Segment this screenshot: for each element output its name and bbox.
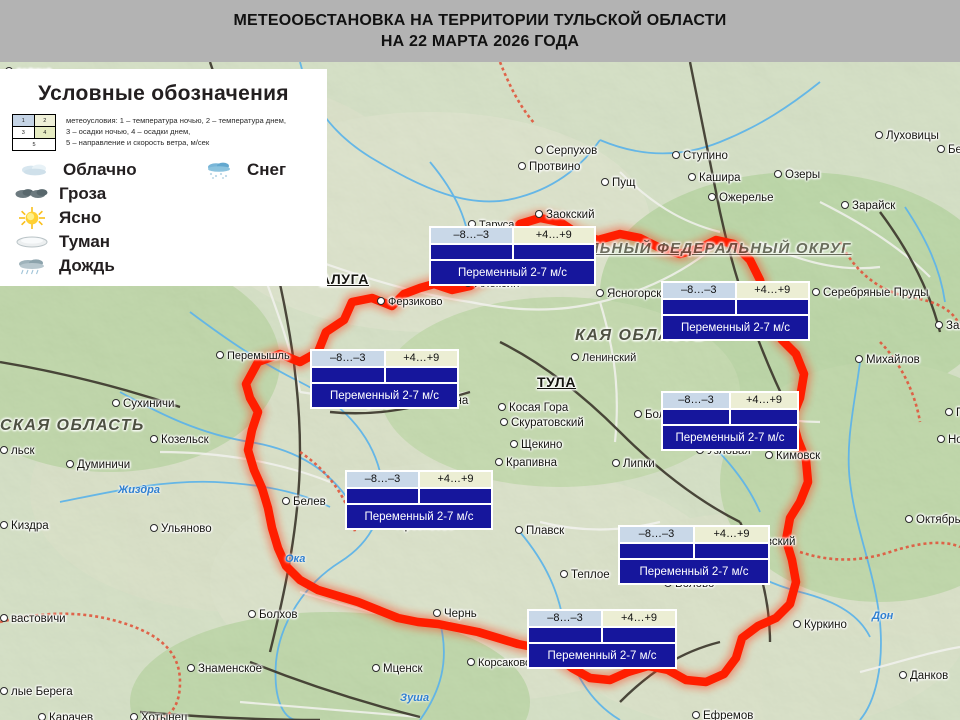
temperature-row: –8…–3+4…+9 <box>662 282 809 299</box>
day-precipitation <box>602 627 676 643</box>
night-precipitation <box>346 488 419 504</box>
legend-label-cloudy: Облачно <box>63 160 137 180</box>
legend-key-row: 1 2 3 4 5 метеоусловия: 1 – температура … <box>12 114 317 151</box>
legend-item-sunny: Ясно <box>14 207 101 229</box>
day-precipitation <box>730 409 798 425</box>
night-precipitation <box>662 299 736 315</box>
temperature-row: –8…–3+4…+9 <box>528 610 676 627</box>
header-title-line-1: МЕТЕООБСТАНОВКА НА ТЕРРИТОРИИ ТУЛЬСКОЙ О… <box>234 10 727 31</box>
cell-3: 3 <box>13 127 35 139</box>
page-header: МЕТЕООБСТАНОВКА НА ТЕРРИТОРИИ ТУЛЬСКОЙ О… <box>0 0 960 62</box>
legend-label-rain: Дождь <box>59 256 115 276</box>
precipitation-row <box>619 543 769 559</box>
weather-box-donskoy[interactable]: –8…–3+4…+9Переменный 2-7 м/с <box>661 391 799 451</box>
cell-4: 4 <box>34 127 56 139</box>
wind-row: Переменный 2-7 м/с <box>311 383 458 408</box>
cloudy-icon <box>18 159 54 181</box>
wind-row: Переменный 2-7 м/с <box>528 643 676 668</box>
weather-box-suvorov[interactable]: –8…–3+4…+9Переменный 2-7 м/с <box>310 349 459 409</box>
day-temperature: +4…+9 <box>385 350 459 367</box>
night-temperature: –8…–3 <box>430 227 513 244</box>
legend-key-line-1: метеоусловия: 1 – температура ночью, 2 –… <box>66 115 286 126</box>
night-precipitation <box>528 627 602 643</box>
day-precipitation <box>419 488 492 504</box>
legend-item-snow: Снег <box>202 159 286 181</box>
night-temperature: –8…–3 <box>662 282 736 299</box>
snow-icon <box>202 159 238 181</box>
weather-box-venev[interactable]: –8…–3+4…+9Переменный 2-7 м/с <box>661 281 810 341</box>
night-temperature: –8…–3 <box>619 526 694 543</box>
day-precipitation <box>385 367 459 383</box>
cell-1: 1 <box>13 115 35 127</box>
temperature-row: –8…–3+4…+9 <box>346 471 492 488</box>
legend-label-sunny: Ясно <box>59 208 101 228</box>
night-precipitation <box>619 543 694 559</box>
night-temperature: –8…–3 <box>311 350 385 367</box>
precipitation-row <box>662 299 809 315</box>
night-temperature: –8…–3 <box>662 392 730 409</box>
wind-row: Переменный 2-7 м/с <box>346 504 492 529</box>
legend-key-text: метеоусловия: 1 – температура ночью, 2 –… <box>66 114 286 148</box>
weather-box-arsenevo[interactable]: –8…–3+4…+9Переменный 2-7 м/с <box>345 470 493 530</box>
legend-title: Условные обозначения <box>10 82 317 106</box>
wind-row: Переменный 2-7 м/с <box>619 559 769 584</box>
weather-box-efremov[interactable]: –8…–3+4…+9Переменный 2-7 м/с <box>527 609 677 669</box>
legend-label-snow: Снег <box>247 160 286 180</box>
fog-icon <box>14 231 50 253</box>
day-temperature: +4…+9 <box>694 526 769 543</box>
legend-item-fog: Туман <box>14 231 110 253</box>
legend-key-line-3: 5 – направление и скорость ветра, м/сек <box>66 137 286 148</box>
precipitation-row <box>528 627 676 643</box>
legend-item-rain: Дождь <box>14 255 115 277</box>
night-temperature: –8…–3 <box>528 610 602 627</box>
cell-2: 2 <box>34 115 56 127</box>
precipitation-row <box>430 244 595 260</box>
wind-row: Переменный 2-7 м/с <box>662 425 798 450</box>
precipitation-row <box>662 409 798 425</box>
temperature-row: –8…–3+4…+9 <box>430 227 595 244</box>
weather-box-alexin[interactable]: –8…–3+4…+9Переменный 2-7 м/с <box>429 226 596 286</box>
day-temperature: +4…+9 <box>736 282 810 299</box>
wind-row: Переменный 2-7 м/с <box>662 315 809 340</box>
cell-5: 5 <box>13 139 56 151</box>
header-title-line-2: НА 22 МАРТА 2026 ГОДА <box>381 31 579 52</box>
precipitation-row <box>346 488 492 504</box>
thunderstorm-icon <box>14 183 50 205</box>
day-precipitation <box>736 299 810 315</box>
wind-row: Переменный 2-7 м/с <box>430 260 595 285</box>
temperature-row: –8…–3+4…+9 <box>662 392 798 409</box>
legend-label-thunderstorm: Гроза <box>59 184 106 204</box>
legend-label-fog: Туман <box>59 232 110 252</box>
precipitation-row <box>311 367 458 383</box>
day-temperature: +4…+9 <box>730 392 798 409</box>
legend-item-list: Облачно Гроза <box>10 159 317 277</box>
day-temperature: +4…+9 <box>602 610 676 627</box>
day-temperature: +4…+9 <box>419 471 492 488</box>
sunny-icon <box>14 207 50 229</box>
meteo-cell-diagram: 1 2 3 4 5 <box>12 114 56 151</box>
rain-icon <box>14 255 50 277</box>
day-precipitation <box>513 244 596 260</box>
temperature-row: –8…–3+4…+9 <box>311 350 458 367</box>
night-precipitation <box>430 244 513 260</box>
temperature-row: –8…–3+4…+9 <box>619 526 769 543</box>
night-precipitation <box>311 367 385 383</box>
legend-key-line-2: 3 – осадки ночью, 4 – осадки днем, <box>66 126 286 137</box>
night-precipitation <box>662 409 730 425</box>
day-temperature: +4…+9 <box>513 227 596 244</box>
screenshot-root: аклиной ЗаводАЛУГАФерзиковоСерпуховПротв… <box>0 0 960 720</box>
night-temperature: –8…–3 <box>346 471 419 488</box>
day-precipitation <box>694 543 769 559</box>
legend-panel: Условные обозначения 1 2 3 4 5 <box>0 69 327 286</box>
legend-item-thunderstorm: Гроза <box>14 183 106 205</box>
weather-box-volovo[interactable]: –8…–3+4…+9Переменный 2-7 м/с <box>618 525 770 585</box>
legend-item-cloudy: Облачно <box>18 159 137 181</box>
